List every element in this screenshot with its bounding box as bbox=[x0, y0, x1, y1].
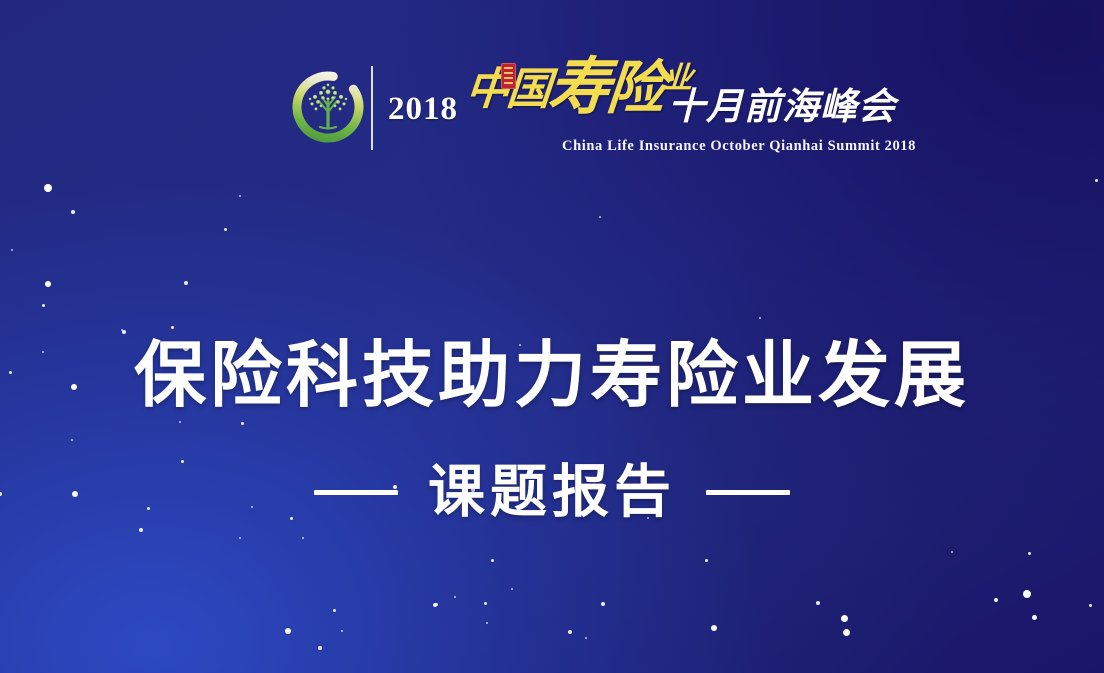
star-dot bbox=[816, 601, 820, 605]
star-dot bbox=[484, 602, 487, 605]
star-dot bbox=[1023, 590, 1031, 598]
star-dot bbox=[843, 629, 850, 636]
page-title: 保险科技助力寿险业发展 bbox=[0, 340, 1104, 412]
star-dot bbox=[139, 528, 143, 532]
star-dot bbox=[433, 603, 437, 607]
title-block: 保险科技助力寿险业发展 课题报告 bbox=[0, 340, 1104, 521]
star-dot bbox=[994, 598, 998, 602]
star-dot bbox=[1095, 179, 1098, 182]
star-dot bbox=[122, 330, 126, 334]
star-dot bbox=[239, 195, 241, 197]
star-dot bbox=[435, 603, 438, 606]
decorative-rule-left-icon bbox=[314, 490, 398, 495]
summit-year: 2018 bbox=[388, 93, 458, 126]
brand-char-xian: 险 bbox=[604, 56, 665, 121]
summit-name-english: China Life Insurance October Qianhai Sum… bbox=[562, 138, 916, 155]
star-dot bbox=[184, 281, 188, 285]
star-dot bbox=[454, 596, 456, 598]
star-dot bbox=[711, 625, 717, 631]
star-dot bbox=[841, 615, 848, 622]
header-divider bbox=[371, 66, 373, 150]
star-dot bbox=[705, 559, 708, 562]
star-dot bbox=[11, 249, 13, 251]
star-dot bbox=[333, 609, 336, 612]
star-dot bbox=[1089, 604, 1092, 607]
star-dot bbox=[601, 602, 605, 606]
star-dot bbox=[171, 326, 174, 329]
star-dot bbox=[759, 317, 761, 319]
star-dot bbox=[44, 184, 52, 192]
star-dot bbox=[599, 216, 601, 218]
star-dot bbox=[71, 210, 75, 214]
subtitle-row: 课题报告 bbox=[0, 464, 1104, 521]
star-dot bbox=[1028, 552, 1031, 555]
star-dot bbox=[45, 281, 51, 287]
star-dot bbox=[585, 637, 587, 639]
star-dot bbox=[491, 559, 494, 562]
red-seal-stamp-icon bbox=[501, 63, 516, 89]
star-dot bbox=[285, 628, 291, 634]
presentation-slide: 2018 中国寿险业 十月前海峰会 China Life Insurance O… bbox=[0, 0, 1104, 673]
star-dot bbox=[341, 630, 343, 632]
star-dot bbox=[42, 304, 45, 307]
brand-char-shou: 寿 bbox=[545, 54, 610, 122]
star-dot bbox=[486, 622, 488, 624]
page-subtitle: 课题报告 bbox=[428, 464, 676, 521]
circle-tree-emblem-icon bbox=[289, 68, 367, 146]
star-dot bbox=[224, 228, 227, 231]
star-dot bbox=[302, 537, 304, 539]
star-dot bbox=[239, 537, 241, 539]
brand-title-chinese-gold: 中国寿险业 bbox=[463, 57, 691, 119]
star-dot bbox=[511, 588, 513, 590]
star-dot bbox=[121, 329, 123, 331]
summit-header-lockup: 2018 中国寿险业 十月前海峰会 China Life Insurance O… bbox=[0, 0, 1104, 175]
star-dot bbox=[1032, 615, 1037, 620]
star-dot bbox=[951, 551, 953, 553]
decorative-rule-right-icon bbox=[706, 490, 790, 495]
summit-name-chinese: 十月前海峰会 bbox=[668, 89, 896, 126]
star-dot bbox=[318, 646, 322, 650]
star-dot bbox=[568, 630, 572, 634]
